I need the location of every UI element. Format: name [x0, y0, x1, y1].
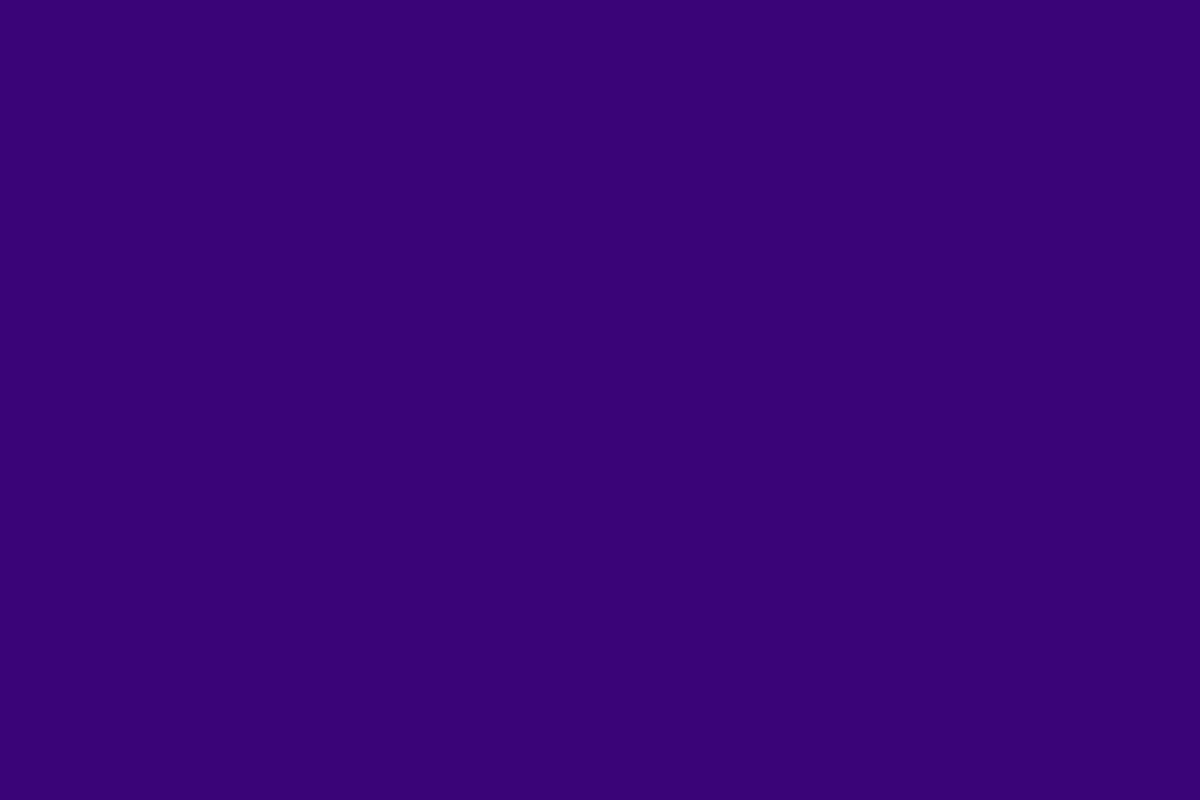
- page-title: 브랜드엑스코퍼레이션 주가 상승의 이유와 차트 분석: [0, 188, 1200, 533]
- thumbnail-card: 브랜드엑스코퍼레이션 주가 상승의 이유와 차트 분석: [0, 0, 1200, 800]
- title-line-1: 브랜드엑스코퍼레이션 주가: [26, 188, 1175, 303]
- title-line-3: 차트 분석: [14, 418, 1186, 533]
- title-line-2: 상승의 이유와: [14, 303, 1186, 418]
